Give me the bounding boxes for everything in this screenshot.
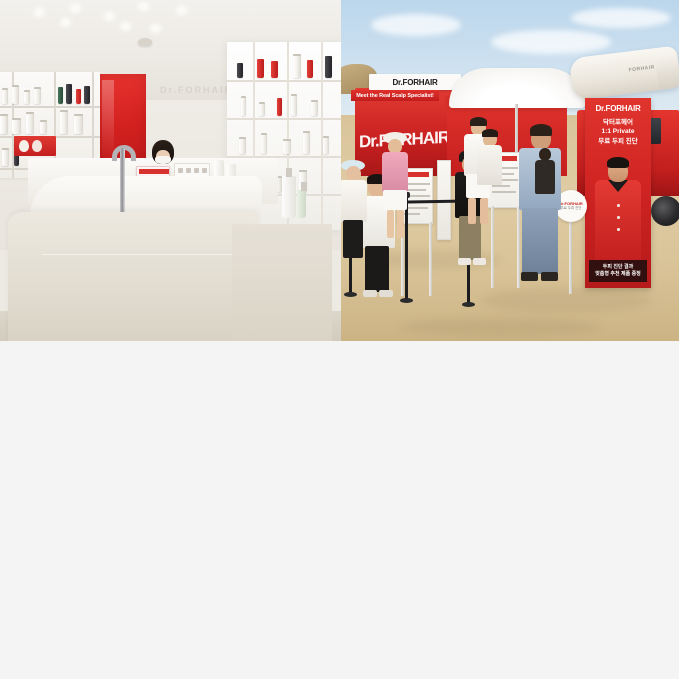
ceiling-downlight	[140, 4, 147, 9]
text-panel: DATA-DRIVEN SCALP INSIGHTS Since 2013, w…	[0, 341, 679, 679]
cloud	[571, 8, 671, 28]
product-bottle	[2, 88, 8, 104]
ceiling-downlight	[72, 6, 79, 11]
product-bottle	[303, 131, 310, 154]
booth-header-brand: Dr.FORHAIR	[392, 78, 437, 87]
banner-kr-line2: 1:1 Private	[585, 127, 651, 136]
visitor	[477, 132, 503, 228]
product-bottle	[26, 112, 34, 134]
product-bottle	[239, 137, 246, 154]
product-bottle	[12, 85, 19, 104]
model-torso	[595, 180, 641, 264]
store-wall-brandmark: Dr.FORHAIR	[160, 85, 233, 95]
product-bottle	[34, 87, 41, 104]
product-bottle	[293, 54, 301, 78]
banner-footer-strip: 두피 진단 결과 맞춤형 추천 제품 증정	[589, 260, 647, 282]
product-bottle	[12, 118, 21, 134]
product-bottle	[325, 56, 332, 78]
reception-counter-front	[8, 212, 258, 341]
product-bottle	[259, 102, 265, 116]
banner-brand: Dr.FORHAIR	[585, 105, 651, 113]
sanitizer-bottle	[297, 190, 306, 218]
product-feature-image: Dr.FORHAIR	[0, 0, 679, 679]
ceiling-downlight	[62, 20, 69, 25]
product-bottle	[257, 59, 264, 78]
ceiling-downlight	[36, 10, 43, 15]
ceiling-downlight	[122, 24, 129, 29]
product-bottle	[277, 98, 282, 116]
banner-model-photo	[589, 160, 647, 264]
round-sign-pole	[569, 220, 572, 294]
smoke-detector-icon	[138, 38, 152, 46]
product-bottle	[40, 120, 47, 134]
round-sign-subtitle: 무료 두피 진단	[560, 206, 581, 211]
product-bottle	[0, 114, 8, 134]
product-bottle	[237, 63, 243, 78]
banner-korean-copy: 닥터포헤어 1:1 Private 무료 두피 진단	[585, 118, 651, 146]
product-bottle	[2, 148, 9, 166]
banner-foot-line2: 맞춤형 추천 제품 증정	[595, 271, 641, 279]
model-hair	[607, 157, 629, 168]
reception-counter-side	[232, 224, 332, 341]
cloud	[371, 14, 461, 36]
product-bottle	[84, 86, 90, 104]
giant-bottle-cap	[655, 57, 679, 89]
ceiling-downlight	[106, 14, 113, 19]
cloud	[491, 30, 611, 54]
product-bottle	[307, 60, 313, 78]
ceiling-downlight	[178, 8, 185, 13]
product-bottle	[60, 110, 68, 134]
product-bottle	[311, 100, 318, 116]
visitor	[381, 132, 409, 242]
product-bottle	[74, 114, 83, 134]
product-bottle	[291, 94, 297, 116]
photo-band: Dr.FORHAIR	[0, 0, 679, 341]
visitor	[341, 160, 369, 270]
photo-scalp-care-center: Dr.FORHAIR	[0, 0, 341, 341]
product-bottle	[76, 89, 81, 104]
banner-kr-line3: 무료 두피 진단	[585, 137, 651, 146]
product-bottle	[66, 84, 72, 104]
banner-kr-line1: 닥터포헤어	[585, 118, 651, 127]
product-bottle	[24, 90, 30, 104]
product-bottle	[271, 61, 278, 78]
product-bottle	[323, 136, 329, 154]
booth-header-subtitle: Meet the Real Scalp Specialist!	[356, 93, 434, 99]
sand-shadow	[481, 288, 651, 312]
booth-header-sign: Dr.FORHAIR	[369, 74, 461, 90]
product-bottle	[241, 96, 246, 116]
face-mask-icon	[155, 156, 171, 164]
white-parasol	[449, 68, 585, 108]
product-bottle	[261, 133, 267, 154]
booth-header-subsign: Meet the Real Scalp Specialist!	[351, 90, 439, 101]
product-bottle	[58, 87, 63, 104]
sanitizer-bottle	[282, 176, 296, 218]
banner-foot-line1: 두피 진단 결과	[603, 264, 633, 272]
photo-mobile-scalp-diagnosis: Dr.FORHAIR Dr.FORHAIR Meet the Real Scal…	[341, 0, 679, 341]
visitor	[535, 148, 555, 208]
diagnosis-banner: Dr.FORHAIR 닥터포헤어 1:1 Private 무료 두피 진단	[585, 98, 651, 288]
giant-bottle-label: FORHAIR	[628, 64, 655, 73]
ceiling-downlight	[152, 26, 159, 31]
shelf-poster	[14, 136, 56, 156]
product-bottle	[283, 139, 291, 154]
sand-shadow	[401, 318, 601, 336]
truck-wheel	[651, 196, 679, 226]
